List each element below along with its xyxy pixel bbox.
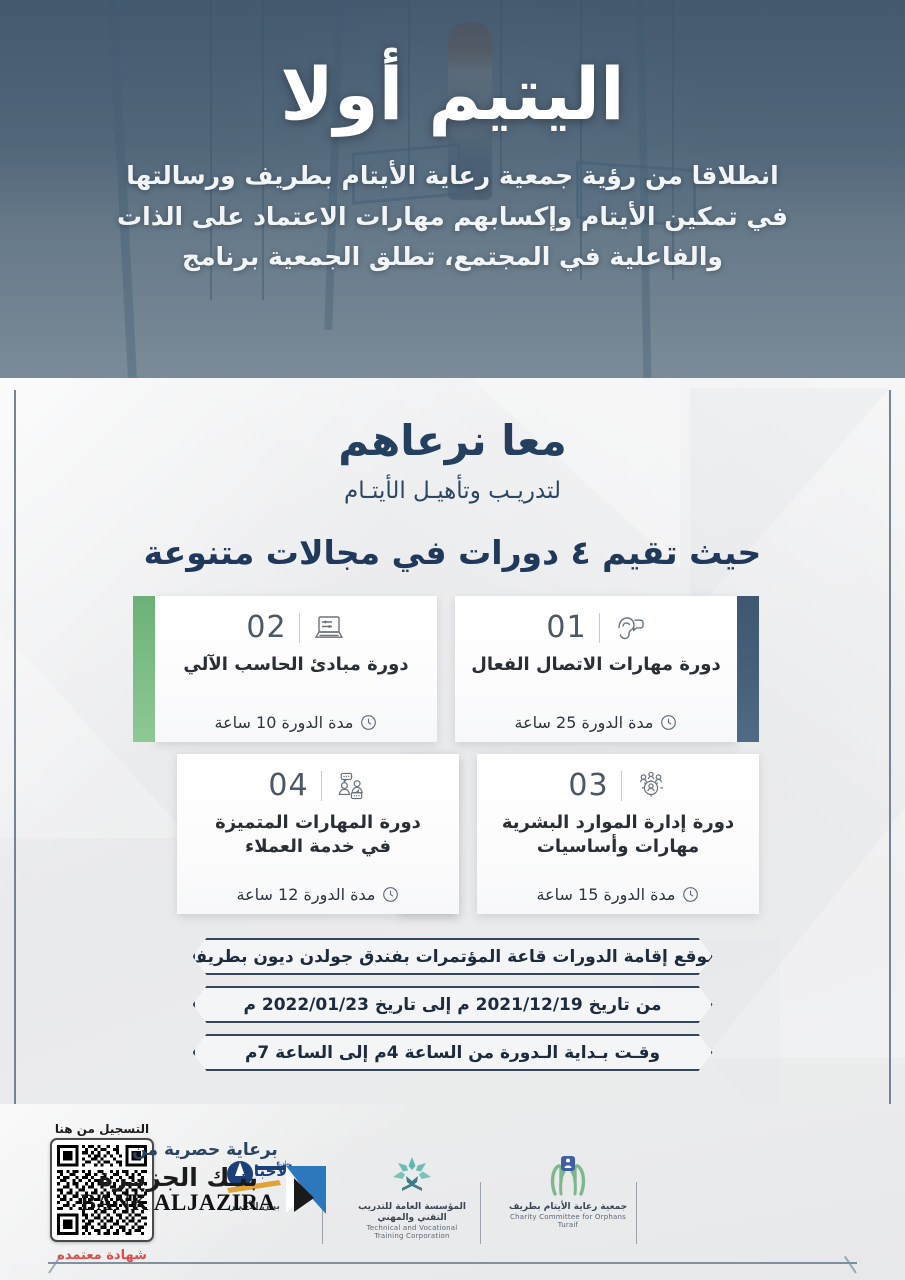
hero-banner: اليتيم أولا انطلاقا من رؤية جمعية رعاية …: [0, 0, 905, 378]
footer-rule: [48, 1262, 857, 1264]
people-group-icon: [634, 771, 668, 801]
course-name: دورة مبادئ الحاسب الآلي: [183, 653, 408, 677]
card-separator: [299, 613, 300, 643]
course-name: دورة مهارات الاتصال الفعال: [471, 653, 721, 677]
course-name: دورة المهارات المتميزة في خدمة العملاء: [215, 811, 421, 859]
logo-label-en: Charity Committee for Orphans Turaif: [508, 1213, 628, 1230]
page-title: اليتيم أولا: [280, 58, 624, 130]
clock-icon: [682, 886, 699, 903]
customer-chat-icon: [334, 771, 368, 801]
card-separator: [321, 771, 322, 801]
course-name: دورة إدارة الموارد البشرية مهارات وأساسي…: [502, 811, 734, 859]
poster-root: اليتيم أولا انطلاقا من رؤية جمعية رعاية …: [0, 0, 905, 1280]
content-body: معا نرعاهم لتدريـب وتأهيـل الأيتـام حيث …: [0, 378, 905, 1280]
course-card-04[interactable]: 04 دورة المهارات المتميزة في خدمة العملا…: [177, 754, 459, 914]
course-card-02[interactable]: 02 دورة مبادئ الحاسب الآلي مدة الدورة 10…: [155, 596, 437, 742]
laptop-icon: [312, 613, 346, 643]
program-subtitle: لتدريـب وتأهيـل الأيتـام: [0, 478, 905, 504]
hero-line-1: انطلاقا من رؤية جمعية رعاية الأيتام بطري…: [83, 156, 823, 197]
logo-charity-orphans: جمعية رعاية الأيتام بطريف Charity Commit…: [508, 1152, 628, 1230]
card-separator: [599, 613, 600, 643]
tvtc-star-icon: [352, 1152, 472, 1198]
qr-label: التسجيل من هنا: [42, 1122, 162, 1136]
clock-icon: [382, 886, 399, 903]
program-title: معا نرعاهم: [0, 416, 905, 465]
sponsor-label: برعاية حصرية من: [80, 1140, 330, 1160]
card-accent-bar-green: [133, 596, 155, 742]
course-card-01[interactable]: 01 دورة مهارات الاتصال الفعال مدة الدورة…: [455, 596, 737, 742]
course-duration-row: مدة الدورة 25 ساعة: [515, 713, 678, 732]
bank-name-ar: بنـك الجزيـرة: [81, 1165, 276, 1191]
course-duration: مدة الدورة 12 ساعة: [237, 885, 376, 904]
logo-label-en: Technical and Vocational Training Corpor…: [352, 1224, 472, 1241]
course-duration: مدة الدورة 25 ساعة: [515, 713, 654, 732]
clock-icon: [360, 714, 377, 731]
course-number: 01: [546, 610, 586, 645]
pill-dates: من تاريخ 2021/12/19 م إلى تاريخ 2022/01/…: [193, 986, 713, 1023]
course-card-03[interactable]: 03 دورة إدارة الموارد البشرية مهارات وأس…: [477, 754, 759, 914]
logo-label-ar: جمعية رعاية الأيتام بطريف: [508, 1202, 628, 1213]
pill-location: موقع إقامة الدورات قاعة المؤتمرات بفندق …: [193, 938, 713, 975]
hero-description: انطلاقا من رؤية جمعية رعاية الأيتام بطري…: [83, 156, 823, 278]
logo-divider: [480, 1182, 481, 1244]
hero-line-3: والفاعلية في المجتمع، تطلق الجمعية برنام…: [83, 237, 823, 278]
course-number: 03: [568, 768, 608, 803]
sponsor-block: برعاية حصرية من بنـك الجزيـرة BANK ALJAZ…: [80, 1140, 330, 1216]
clock-icon: [660, 714, 677, 731]
card-separator: [621, 771, 622, 801]
hands-heart-icon: [508, 1152, 628, 1198]
course-duration: مدة الدورة 10 ساعة: [215, 713, 354, 732]
pill-time: وقـت بـداية الـدورة من الساعة 4م إلى الس…: [193, 1034, 713, 1071]
event-info-pills: موقع إقامة الدورات قاعة المؤتمرات بفندق …: [0, 938, 905, 1082]
ear-listening-icon: [612, 613, 646, 643]
courses-heading: حيث تقيم ٤ دورات في مجالات متنوعة: [0, 533, 905, 572]
bank-name-text: بنـك الجزيـرة BANK ALJAZIRA: [81, 1165, 276, 1215]
card-accent-bar-navy: [737, 596, 759, 742]
logo-tvtc: المؤسسة العامة للتدريب التقني والمهني Te…: [352, 1152, 472, 1240]
course-number: 04: [268, 768, 308, 803]
course-duration-row: مدة الدورة 15 ساعة: [537, 885, 700, 904]
course-duration-row: مدة الدورة 10 ساعة: [215, 713, 378, 732]
bank-aljazira-logo: بنـك الجزيـرة BANK ALJAZIRA: [80, 1164, 330, 1216]
logo-label-ar: المؤسسة العامة للتدريب التقني والمهني: [352, 1202, 472, 1224]
logo-divider: [636, 1182, 637, 1244]
hero-line-2: في تمكين الأيتام وإكسابهم مهارات الاعتما…: [83, 197, 823, 238]
courses-grid: 01 دورة مهارات الاتصال الفعال مدة الدورة…: [155, 596, 755, 916]
bank-logo-mark: [282, 1164, 330, 1216]
footer-bar: التسجيل من هنا: [0, 1104, 905, 1280]
course-number: 02: [246, 610, 286, 645]
bank-name-en: BANK ALJAZIRA: [81, 1191, 276, 1215]
course-duration: مدة الدورة 15 ساعة: [537, 885, 676, 904]
course-duration-row: مدة الدورة 12 ساعة: [237, 885, 400, 904]
